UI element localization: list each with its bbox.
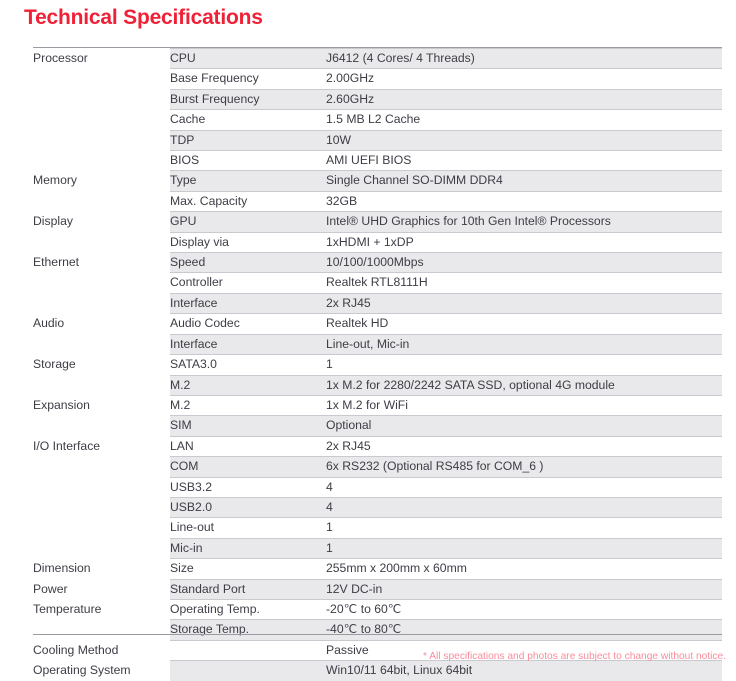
- table-row: Display via1xHDMI + 1xDP: [33, 232, 722, 252]
- spec-value-cell: 1: [326, 355, 722, 375]
- spec-value-cell: AMI UEFI BIOS: [326, 151, 722, 171]
- spec-value-cell: 4: [326, 477, 722, 497]
- table-row: SIMOptional: [33, 416, 722, 436]
- spec-value-cell: 2x RJ45: [326, 293, 722, 313]
- spec-value-cell: 1xHDMI + 1xDP: [326, 232, 722, 252]
- table-row: ControllerRealtek RTL8111H: [33, 273, 722, 293]
- spec-category-cell: Expansion: [33, 395, 170, 415]
- spec-value-cell: 12V DC-in: [326, 579, 722, 599]
- spec-category-cell: [33, 232, 170, 252]
- spec-category-cell: Processor: [33, 49, 170, 69]
- table-row: Mic-in1: [33, 538, 722, 558]
- spec-item-cell: CPU: [170, 49, 326, 69]
- spec-item-cell: BIOS: [170, 151, 326, 171]
- table-row: AudioAudio CodecRealtek HD: [33, 314, 722, 334]
- spec-value-cell: 1.5 MB L2 Cache: [326, 110, 722, 130]
- table-row: InterfaceLine-out, Mic-in: [33, 334, 722, 354]
- spec-item-cell: COM: [170, 457, 326, 477]
- table-row: Storage Temp.-40℃ to 80℃: [33, 620, 722, 640]
- table-row: ExpansionM.21x M.2 for WiFi: [33, 395, 722, 415]
- table-row: DisplayGPUIntel® UHD Graphics for 10th G…: [33, 212, 722, 232]
- table-row: COM6x RS232 (Optional RS485 for COM_6 ): [33, 457, 722, 477]
- table-row: Line-out1: [33, 518, 722, 538]
- disclaimer-footnote: * All specifications and photos are subj…: [423, 651, 726, 662]
- spec-item-cell: TDP: [170, 130, 326, 150]
- spec-item-cell: [170, 661, 326, 681]
- spec-item-cell: Operating Temp.: [170, 599, 326, 619]
- table-row: Interface2x RJ45: [33, 293, 722, 313]
- spec-item-cell: [170, 640, 326, 660]
- spec-category-cell: I/O Interface: [33, 436, 170, 456]
- spec-item-cell: Speed: [170, 253, 326, 273]
- spec-value-cell: 1x M.2 for 2280/2242 SATA SSD, optional …: [326, 375, 722, 395]
- spec-category-cell: Power: [33, 579, 170, 599]
- spec-category-cell: [33, 620, 170, 640]
- spec-item-cell: Controller: [170, 273, 326, 293]
- spec-item-cell: GPU: [170, 212, 326, 232]
- table-row: BIOSAMI UEFI BIOS: [33, 151, 722, 171]
- table-row: EthernetSpeed10/100/1000Mbps: [33, 253, 722, 273]
- spec-category-cell: [33, 416, 170, 436]
- table-row: PowerStandard Port12V DC-in: [33, 579, 722, 599]
- spec-category-cell: Display: [33, 212, 170, 232]
- spec-item-cell: Display via: [170, 232, 326, 252]
- table-row: DimensionSize255mm x 200mm x 60mm: [33, 559, 722, 579]
- technical-specifications-table: ProcessorCPUJ6412 (4 Cores/ 4 Threads)Ba…: [33, 48, 722, 681]
- spec-category-cell: Operating System: [33, 661, 170, 681]
- spec-value-cell: 4: [326, 497, 722, 517]
- spec-item-cell: Cache: [170, 110, 326, 130]
- spec-item-cell: Burst Frequency: [170, 89, 326, 109]
- spec-value-cell: 6x RS232 (Optional RS485 for COM_6 ): [326, 457, 722, 477]
- table-row: Operating SystemWin10/11 64bit, Linux 64…: [33, 661, 722, 681]
- page-title: Technical Specifications: [24, 6, 263, 30]
- spec-value-cell: 255mm x 200mm x 60mm: [326, 559, 722, 579]
- table-row: Cache1.5 MB L2 Cache: [33, 110, 722, 130]
- spec-category-cell: [33, 151, 170, 171]
- spec-item-cell: Base Frequency: [170, 69, 326, 89]
- spec-category-cell: [33, 130, 170, 150]
- spec-item-cell: Max. Capacity: [170, 191, 326, 211]
- spec-category-cell: [33, 538, 170, 558]
- spec-value-cell: Realtek RTL8111H: [326, 273, 722, 293]
- spec-table-container: ProcessorCPUJ6412 (4 Cores/ 4 Threads)Ba…: [33, 48, 722, 681]
- spec-value-cell: Line-out, Mic-in: [326, 334, 722, 354]
- spec-value-cell: -40℃ to 80℃: [326, 620, 722, 640]
- spec-value-cell: Win10/11 64bit, Linux 64bit: [326, 661, 722, 681]
- spec-item-cell: Mic-in: [170, 538, 326, 558]
- spec-value-cell: Realtek HD: [326, 314, 722, 334]
- spec-item-cell: M.2: [170, 375, 326, 395]
- spec-value-cell: 1x M.2 for WiFi: [326, 395, 722, 415]
- table-row: StorageSATA3.01: [33, 355, 722, 375]
- spec-item-cell: SATA3.0: [170, 355, 326, 375]
- spec-category-cell: Storage: [33, 355, 170, 375]
- spec-item-cell: Size: [170, 559, 326, 579]
- table-row: Max. Capacity32GB: [33, 191, 722, 211]
- spec-item-cell: M.2: [170, 395, 326, 415]
- spec-item-cell: Audio Codec: [170, 314, 326, 334]
- spec-item-cell: SIM: [170, 416, 326, 436]
- spec-category-cell: [33, 457, 170, 477]
- spec-category-cell: [33, 518, 170, 538]
- spec-category-cell: Temperature: [33, 599, 170, 619]
- spec-category-cell: Memory: [33, 171, 170, 191]
- spec-category-cell: [33, 273, 170, 293]
- spec-category-cell: [33, 334, 170, 354]
- spec-category-cell: [33, 69, 170, 89]
- table-row: TDP10W: [33, 130, 722, 150]
- spec-value-cell: 32GB: [326, 191, 722, 211]
- spec-category-cell: [33, 375, 170, 395]
- spec-value-cell: Optional: [326, 416, 722, 436]
- spec-value-cell: 2x RJ45: [326, 436, 722, 456]
- spec-table-body: ProcessorCPUJ6412 (4 Cores/ 4 Threads)Ba…: [33, 49, 722, 681]
- table-row: M.21x M.2 for 2280/2242 SATA SSD, option…: [33, 375, 722, 395]
- table-row: I/O InterfaceLAN2x RJ45: [33, 436, 722, 456]
- spec-value-cell: 10W: [326, 130, 722, 150]
- spec-category-cell: Audio: [33, 314, 170, 334]
- spec-category-cell: [33, 477, 170, 497]
- table-row: USB2.04: [33, 497, 722, 517]
- table-row: MemoryTypeSingle Channel SO-DIMM DDR4: [33, 171, 722, 191]
- spec-sheet-page: Technical Specifications ProcessorCPUJ64…: [0, 0, 736, 673]
- table-row: TemperatureOperating Temp.-20℃ to 60℃: [33, 599, 722, 619]
- spec-value-cell: 10/100/1000Mbps: [326, 253, 722, 273]
- spec-value-cell: 2.60GHz: [326, 89, 722, 109]
- spec-item-cell: Storage Temp.: [170, 620, 326, 640]
- spec-item-cell: Interface: [170, 293, 326, 313]
- spec-value-cell: 2.00GHz: [326, 69, 722, 89]
- spec-value-cell: 1: [326, 518, 722, 538]
- spec-value-cell: J6412 (4 Cores/ 4 Threads): [326, 49, 722, 69]
- table-row: ProcessorCPUJ6412 (4 Cores/ 4 Threads): [33, 49, 722, 69]
- spec-value-cell: -20℃ to 60℃: [326, 599, 722, 619]
- table-row: Base Frequency2.00GHz: [33, 69, 722, 89]
- spec-item-cell: Interface: [170, 334, 326, 354]
- spec-item-cell: USB2.0: [170, 497, 326, 517]
- spec-item-cell: Type: [170, 171, 326, 191]
- spec-value-cell: Intel® UHD Graphics for 10th Gen Intel® …: [326, 212, 722, 232]
- spec-value-cell: Single Channel SO-DIMM DDR4: [326, 171, 722, 191]
- spec-category-cell: Cooling Method: [33, 640, 170, 660]
- table-bottom-rule: [33, 634, 722, 635]
- spec-category-cell: Dimension: [33, 559, 170, 579]
- spec-item-cell: Standard Port: [170, 579, 326, 599]
- spec-category-cell: [33, 497, 170, 517]
- spec-category-cell: [33, 191, 170, 211]
- spec-category-cell: [33, 89, 170, 109]
- spec-category-cell: [33, 293, 170, 313]
- spec-category-cell: [33, 110, 170, 130]
- table-row: Burst Frequency2.60GHz: [33, 89, 722, 109]
- spec-item-cell: Line-out: [170, 518, 326, 538]
- spec-item-cell: LAN: [170, 436, 326, 456]
- spec-item-cell: USB3.2: [170, 477, 326, 497]
- spec-value-cell: 1: [326, 538, 722, 558]
- table-row: USB3.24: [33, 477, 722, 497]
- spec-category-cell: Ethernet: [33, 253, 170, 273]
